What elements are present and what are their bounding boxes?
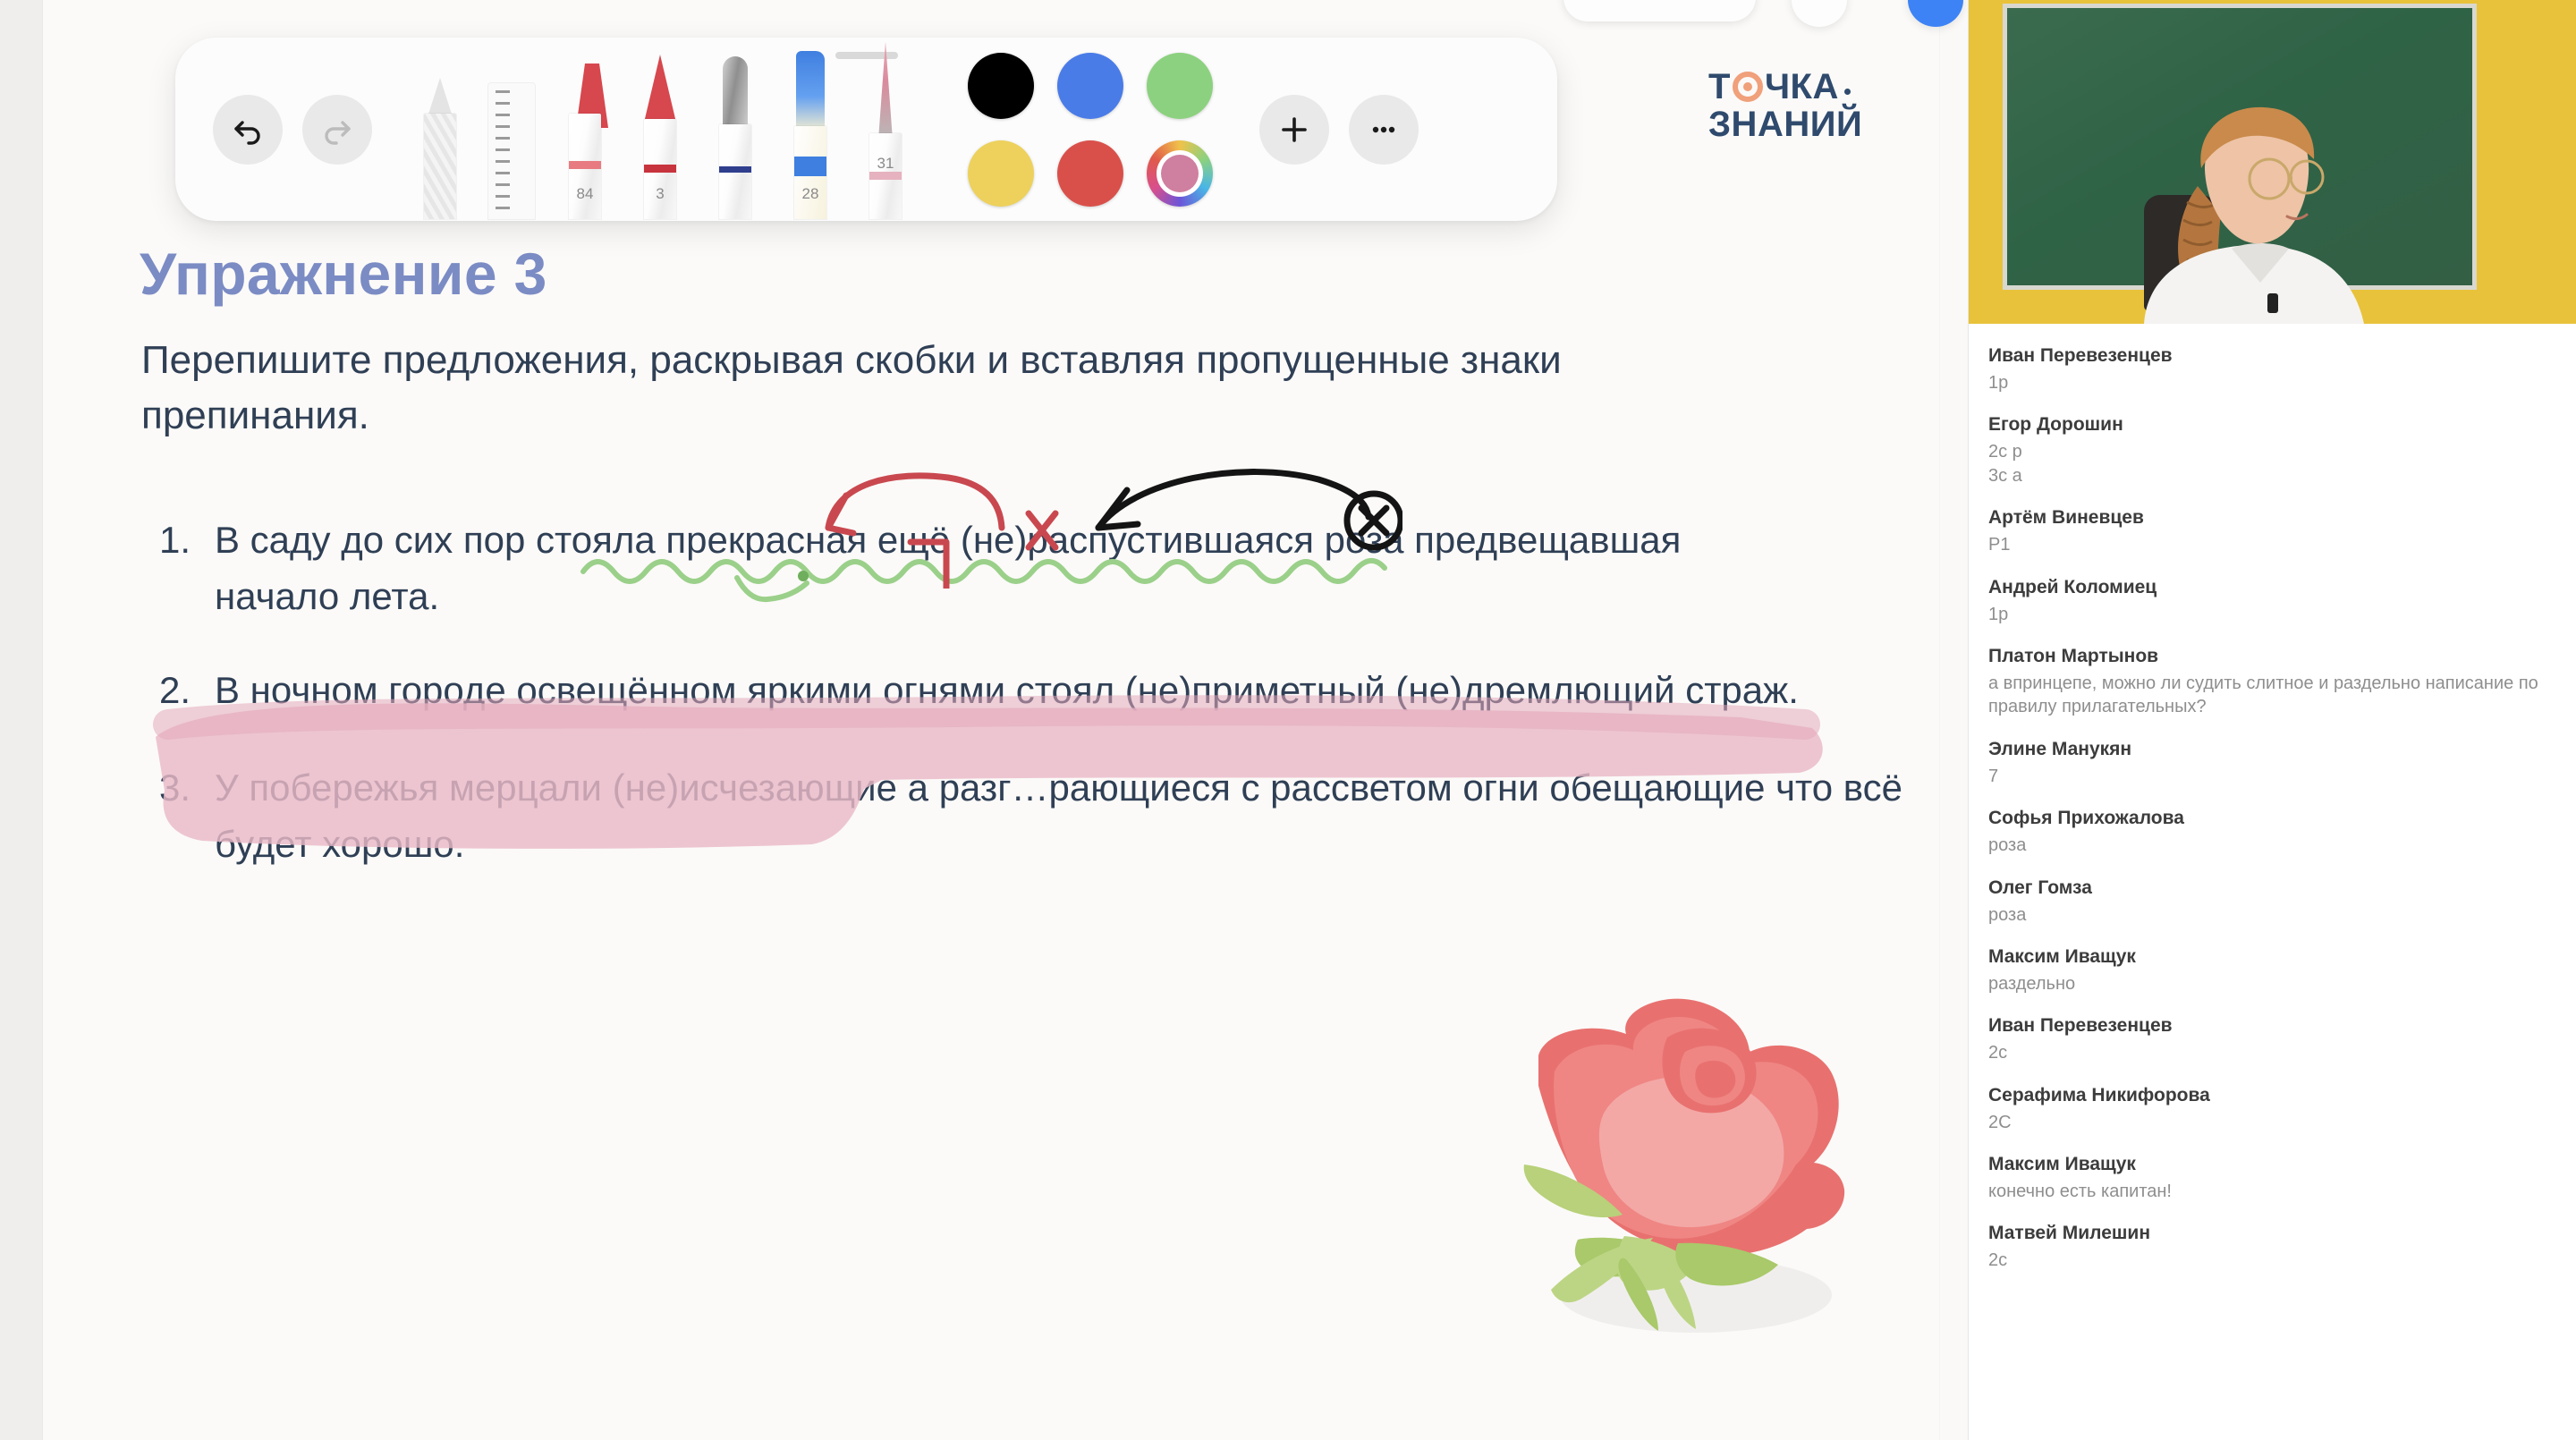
chat-text: 2С (1988, 1111, 2556, 1134)
chat-text: 1р (1988, 371, 2556, 394)
list-item-number: 2. (159, 662, 215, 718)
list-item-text: В ночном городе освещённом яркими огнями… (215, 662, 1843, 718)
swatch-black[interactable] (968, 53, 1034, 119)
chat-message: Серафима Никифорова 2С (1988, 1085, 2556, 1134)
tool-marker[interactable]: 3 (633, 40, 687, 219)
tool-pencil[interactable] (413, 40, 467, 219)
tool-highlighter-size: 28 (784, 185, 837, 203)
logo-target-icon (1733, 72, 1763, 102)
chat-text: роза (1988, 903, 2556, 927)
swatch-yellow[interactable] (968, 140, 1034, 207)
logo-dot-icon (1844, 89, 1851, 95)
ellipsis-icon (1366, 112, 1402, 148)
tool-pen-thin[interactable]: 84 (558, 40, 612, 219)
tool-marker-size: 3 (633, 185, 687, 203)
chat-message: Матвей Милешин 2с (1988, 1223, 2556, 1272)
color-palette[interactable] (968, 53, 1213, 207)
add-tool-button[interactable] (1259, 95, 1329, 165)
chat-author: Софья Прихожалова (1988, 808, 2556, 829)
chat-message: Платон Мартынов а впринцепе, можно ли су… (1988, 646, 2556, 719)
redo-button[interactable] (302, 95, 372, 165)
page-left-gutter (0, 0, 43, 1440)
right-sidebar[interactable]: Иван Перевезенцев 1р Егор Дорошин 2с р 3… (1968, 0, 2576, 1440)
chat-text: 2с (1988, 1249, 2556, 1272)
chat-author: Серафима Никифорова (1988, 1085, 2556, 1106)
chat-text: Р1 (1988, 533, 2556, 556)
top-pill-control[interactable] (1563, 0, 1756, 21)
chat-message: Иван Перевезенцев 1р (1988, 345, 2556, 394)
chat-text: роза (1988, 834, 2556, 857)
top-circle-button[interactable] (1792, 0, 1847, 27)
tool-brush[interactable]: 31 (859, 40, 912, 219)
logo-text-part-1: Т (1708, 70, 1731, 104)
chat-author: Олег Гомза (1988, 877, 2556, 899)
drawing-toolbar[interactable]: 84 3 (175, 38, 1557, 221)
list-item-text: У побережья мерцали (не)исчезающие а раз… (215, 759, 1912, 872)
whiteboard-pane[interactable]: Т ЧКА ЗНАНИЙ (0, 0, 1968, 1440)
tool-pen-thin-size: 84 (558, 185, 612, 203)
rose-illustration (1492, 975, 1885, 1351)
swatch-green[interactable] (1147, 53, 1213, 119)
chat-author: Элине Манукян (1988, 739, 2556, 760)
logo-text-part-2: ЧКА (1765, 70, 1839, 104)
chat-message: Андрей Коломиец 1р (1988, 577, 2556, 626)
teacher-avatar (2112, 82, 2407, 324)
swatch-blue[interactable] (1057, 53, 1123, 119)
chat-author: Максим Иващук (1988, 946, 2556, 968)
tool-highlighter[interactable]: 28 (784, 40, 837, 219)
chat-text: конечно есть капитан! (1988, 1180, 2556, 1203)
tool-brush-size: 31 (859, 155, 912, 173)
chat-message: Максим Иващук раздельно (1988, 946, 2556, 995)
chat-message: Олег Гомза роза (1988, 877, 2556, 927)
list-item: 3. У побережья мерцали (не)исчезающие а … (159, 759, 1912, 872)
chat-text: 2с (1988, 1041, 2556, 1064)
list-item-number: 3. (159, 759, 215, 872)
tool-ruler[interactable] (485, 40, 538, 219)
chat-author: Иван Перевезенцев (1988, 1015, 2556, 1037)
chat-author: Максим Иващук (1988, 1154, 2556, 1175)
chat-author: Андрей Коломиец (1988, 577, 2556, 598)
chat-author: Матвей Милешин (1988, 1223, 2556, 1244)
chat-text: 2с р 3с а (1988, 440, 2556, 487)
chat-text: раздельно (1988, 972, 2556, 995)
chat-message-list[interactable]: Иван Перевезенцев 1р Егор Дорошин 2с р 3… (1969, 324, 2576, 1273)
undo-icon (230, 112, 266, 148)
chat-message: Максим Иващук конечно есть капитан! (1988, 1154, 2556, 1203)
chat-author: Егор Дорошин (1988, 414, 2556, 436)
undo-button[interactable] (213, 95, 283, 165)
document-page[interactable]: Т ЧКА ЗНАНИЙ (43, 0, 1939, 1440)
tool-fountain-pen[interactable] (708, 40, 762, 219)
teacher-video-feed[interactable] (1969, 0, 2576, 324)
chat-text: 1р (1988, 603, 2556, 626)
list-item-number: 1. (159, 512, 215, 624)
chat-author: Артём Виневцев (1988, 507, 2556, 529)
swatch-custom-color[interactable] (1147, 140, 1213, 207)
more-options-button[interactable] (1349, 95, 1419, 165)
redo-icon (319, 112, 355, 148)
page-title: Упражнение 3 (140, 240, 547, 308)
top-accent-button[interactable] (1908, 0, 1963, 27)
chat-message: Артём Виневцев Р1 (1988, 507, 2556, 556)
chat-message: Элине Манукян 7 (1988, 739, 2556, 788)
list-item: 2. В ночном городе освещённом яркими огн… (159, 662, 1912, 718)
chat-author: Иван Перевезенцев (1988, 345, 2556, 367)
handwritten-annotations (776, 428, 1402, 589)
chat-message: Софья Прихожалова роза (1988, 808, 2556, 857)
app-root: Т ЧКА ЗНАНИЙ (0, 0, 2576, 1440)
brand-logo: Т ЧКА ЗНАНИЙ (1708, 70, 1862, 142)
chat-author: Платон Мартынов (1988, 646, 2556, 667)
logo-text-line-2: ЗНАНИЙ (1708, 107, 1862, 141)
swatch-red[interactable] (1057, 140, 1123, 207)
chat-text: 7 (1988, 765, 2556, 788)
chat-text: а впринцепе, можно ли судить слитное и р… (1988, 672, 2556, 719)
chat-message: Егор Дорошин 2с р 3с а (1988, 414, 2556, 487)
plus-icon (1276, 112, 1312, 148)
chat-message: Иван Перевезенцев 2с (1988, 1015, 2556, 1064)
